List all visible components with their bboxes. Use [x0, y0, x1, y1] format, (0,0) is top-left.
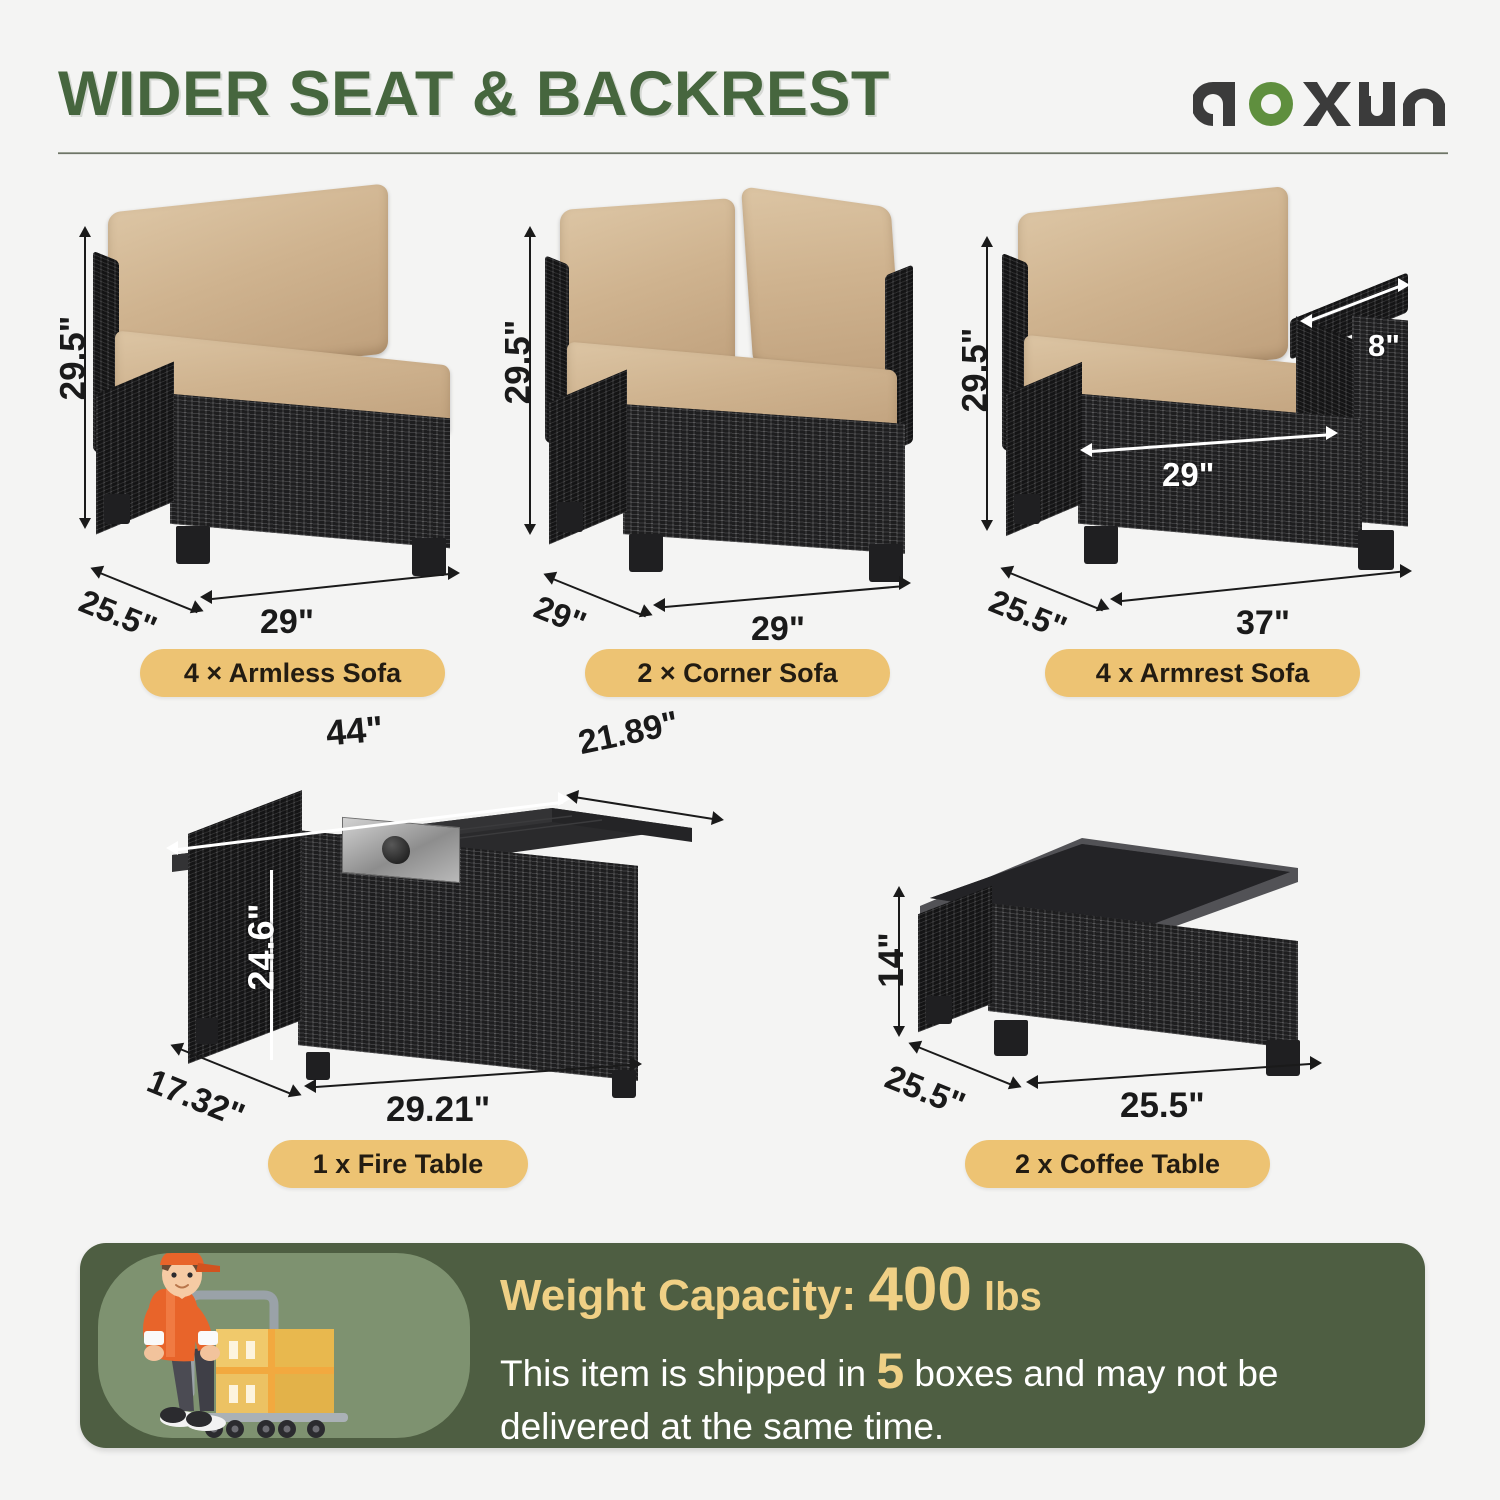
armless-width-line	[212, 573, 451, 600]
header-divider	[58, 152, 1448, 155]
badge-armless-label: 4 × Armless Sofa	[184, 658, 401, 689]
fire-table-leg-front-right	[612, 1070, 636, 1098]
armrest-width-arrow-right	[1400, 564, 1412, 578]
fire-top-depth-label: 21.89"	[575, 704, 682, 763]
product-armrest-sofa: 29.5" 25.5" 37" 29" 8"	[960, 178, 1440, 638]
fire-table-leg-front-left	[306, 1052, 330, 1080]
coffee-depth-arrow-end	[1008, 1076, 1024, 1093]
armless-height-arrow-bottom	[79, 518, 91, 529]
coffee-depth-label: 25.5"	[879, 1058, 970, 1125]
product-corner-sofa: 29.5" 29" 29"	[505, 178, 955, 638]
badge-fire-table[interactable]: 1 x Fire Table	[268, 1140, 528, 1188]
armrest-base-front	[1078, 394, 1362, 549]
armrest-height-arrow-top	[981, 236, 993, 247]
fire-top-length-label: 44"	[324, 708, 385, 755]
badge-fire-label: 1 x Fire Table	[313, 1149, 484, 1180]
products-row-bottom: 44" 21.89" 24.6" 17.32" 29.21"	[0, 700, 1500, 1220]
shipping-note-prefix: This item is shipped in	[500, 1353, 866, 1394]
coffee-depth-arrow-start	[906, 1036, 922, 1053]
weight-capacity-value: 400	[868, 1255, 971, 1324]
corner-width-arrow-left	[653, 598, 665, 612]
fire-base-depth-arrow-end	[288, 1084, 304, 1101]
product-coffee-table: 14" 25.5" 25.5"	[860, 700, 1340, 1130]
delivery-person-icon	[98, 1253, 470, 1438]
armrest-armdepth-arrow-left	[1300, 314, 1312, 328]
armrest-width-label: 37"	[1236, 604, 1290, 643]
armless-depth-arrow-start	[88, 561, 104, 578]
armrest-leg-front-left	[1084, 526, 1118, 564]
armrest-width-arrow-left	[1110, 592, 1122, 606]
fire-height-label: 24.6"	[241, 903, 283, 990]
shipping-box-count: 5	[876, 1343, 904, 1399]
coffee-table-leg-front-left	[994, 1020, 1028, 1056]
fire-base-length-arrow-left	[304, 1079, 316, 1093]
armrest-height-label: 29.5"	[955, 328, 995, 413]
brand-logo	[1193, 62, 1445, 134]
banner-text-block: Weight Capacity: 400 lbs This item is sh…	[500, 1259, 1400, 1450]
fire-table-leg-back-left	[196, 1018, 218, 1044]
corner-height-arrow-top	[524, 226, 536, 237]
infographic-page: WIDER SEAT & BACKREST	[0, 0, 1500, 1500]
coffee-height-label: 14"	[872, 932, 912, 988]
fire-base-depth-label: 17.32"	[141, 1062, 249, 1136]
fire-base-length-label: 29.21"	[386, 1090, 490, 1130]
fire-base-length-line	[316, 1064, 635, 1088]
fire-top-depth-arrow-left	[565, 788, 579, 804]
coffee-table-leg-front-right	[1266, 1040, 1300, 1076]
corner-width-line	[665, 585, 902, 608]
corner-backrest-right-cushion	[741, 186, 903, 388]
coffee-width-arrow-right	[1310, 1056, 1322, 1070]
corner-width-label: 29"	[751, 610, 805, 649]
product-fire-table: 44" 21.89" 24.6" 17.32" 29.21"	[130, 700, 710, 1130]
badge-coffee-table[interactable]: 2 x Coffee Table	[965, 1140, 1270, 1188]
armless-width-arrow-left	[200, 590, 212, 604]
aoxun-logo-icon	[1193, 62, 1445, 134]
armrest-armdepth-arrow-right	[1398, 278, 1410, 292]
products-row-top: 29.5" 25.5" 29"	[0, 178, 1500, 698]
corner-height-label: 29.5"	[498, 320, 538, 405]
shipping-banner: Weight Capacity: 400 lbs This item is sh…	[80, 1243, 1425, 1448]
armrest-seatwidth-arrow-left	[1080, 443, 1092, 457]
corner-leg-front-right	[869, 544, 903, 582]
armrest-seatwidth-label: 29"	[1162, 456, 1214, 494]
badge-armrest-label: 4 x Armrest Sofa	[1096, 658, 1310, 689]
coffee-width-label: 25.5"	[1120, 1086, 1205, 1126]
coffee-height-arrow-bottom	[893, 1026, 905, 1037]
delivery-illustration	[98, 1253, 470, 1438]
armrest-width-line	[1122, 571, 1403, 602]
fire-base-length-arrow-right	[630, 1057, 642, 1071]
badge-armrest-sofa[interactable]: 4 x Armrest Sofa	[1045, 649, 1360, 697]
badge-corner-sofa[interactable]: 2 × Corner Sofa	[585, 649, 890, 697]
corner-base-front	[623, 404, 905, 554]
armless-height-label: 29.5"	[53, 316, 93, 401]
corner-leg-back-left	[557, 502, 583, 532]
corner-depth-label: 29"	[529, 588, 592, 643]
badge-coffee-label: 2 x Coffee Table	[1015, 1149, 1220, 1180]
armless-leg-back-left	[104, 494, 130, 524]
armless-base-front	[170, 394, 450, 548]
coffee-width-arrow-left	[1026, 1075, 1038, 1089]
corner-depth-arrow-start	[541, 567, 557, 584]
coffee-height-arrow-top	[893, 886, 905, 897]
fire-top-depth-arrow-right	[711, 811, 725, 827]
shipping-note: This item is shipped in 5 boxes and may …	[500, 1339, 1380, 1450]
armrest-leg-front-right	[1358, 530, 1394, 570]
corner-width-arrow-right	[899, 576, 911, 590]
badge-corner-label: 2 × Corner Sofa	[637, 658, 837, 689]
corner-height-arrow-bottom	[524, 524, 536, 535]
page-title: WIDER SEAT & BACKREST	[58, 58, 890, 130]
coffee-table-leg-back-left	[926, 996, 952, 1024]
product-armless-sofa: 29.5" 25.5" 29"	[60, 178, 480, 638]
fire-top-length-arrow-left	[166, 841, 178, 855]
armrest-depth-arrow-start	[998, 561, 1014, 578]
armless-leg-front-left	[176, 526, 210, 564]
armrest-leg-back-left	[1014, 494, 1040, 524]
armrest-armdepth-label: 8"	[1368, 328, 1400, 364]
corner-leg-front-left	[629, 534, 663, 572]
weight-capacity-unit: lbs	[984, 1275, 1042, 1319]
fire-base-depth-arrow-start	[168, 1038, 184, 1055]
armless-height-arrow-top	[79, 226, 91, 237]
armrest-seatwidth-arrow-right	[1326, 426, 1338, 440]
badge-armless-sofa[interactable]: 4 × Armless Sofa	[140, 649, 445, 697]
header: WIDER SEAT & BACKREST	[0, 0, 1500, 170]
weight-capacity-label: Weight Capacity:	[500, 1271, 856, 1320]
armless-leg-front-right	[412, 538, 446, 576]
armless-width-label: 29"	[260, 603, 314, 642]
weight-capacity-line: Weight Capacity: 400 lbs	[500, 1259, 1400, 1321]
armless-width-arrow-right	[448, 566, 460, 580]
armrest-height-arrow-bottom	[981, 520, 993, 531]
